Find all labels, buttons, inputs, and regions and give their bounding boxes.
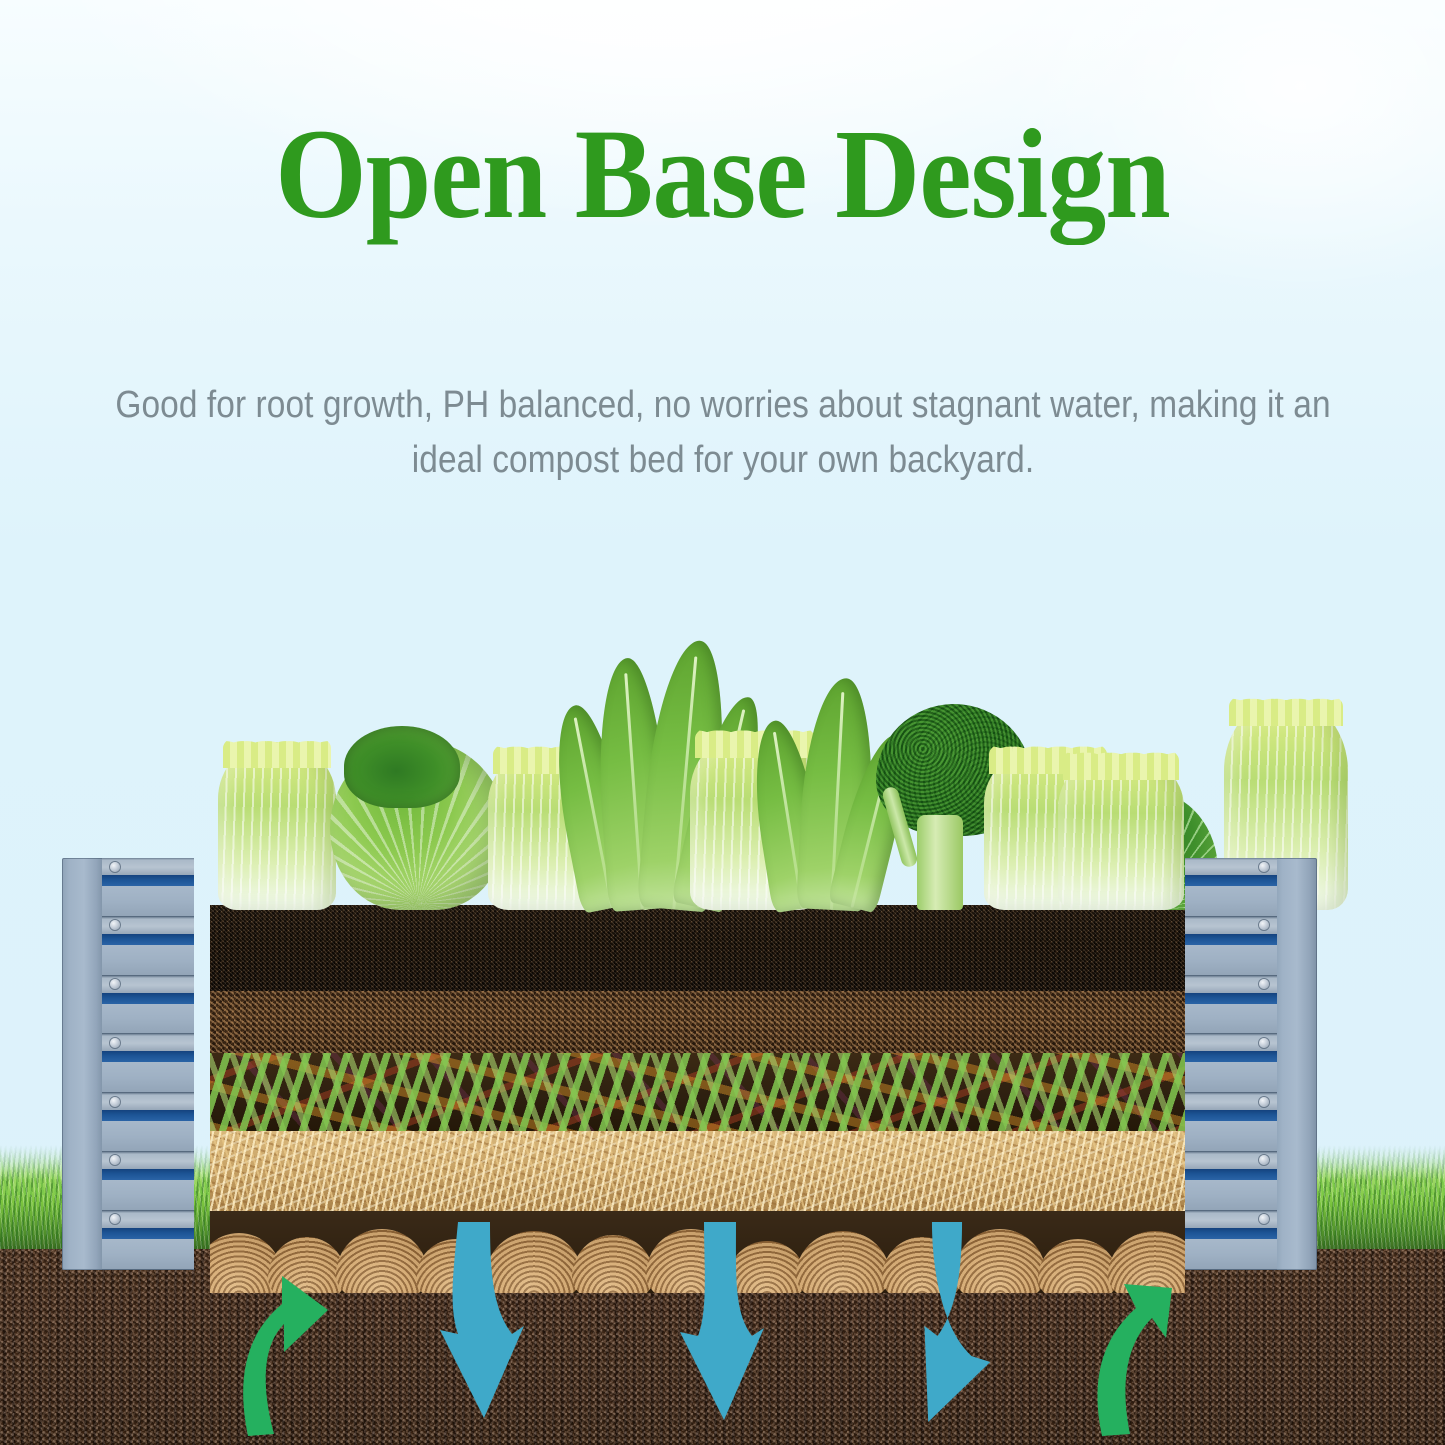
screw-icon (1259, 1097, 1269, 1107)
panel-slats-left (102, 858, 194, 1270)
log-end (572, 1235, 654, 1293)
panel-slat (1185, 1152, 1277, 1211)
drainage-down-arrow-2 (672, 1222, 768, 1422)
panel-slat (102, 1211, 194, 1270)
infographic-canvas: Open Base Design Good for root growth, P… (0, 0, 1445, 1445)
airflow-up-left-arrow (232, 1248, 340, 1438)
napa-cabbage (218, 742, 336, 910)
panel-slat (102, 858, 194, 917)
page-subtitle: Good for root growth, PH balanced, no wo… (93, 378, 1351, 488)
log-end (336, 1229, 428, 1293)
screw-icon (110, 1097, 120, 1107)
drainage-down-arrow-3 (914, 1222, 1010, 1422)
corner-post-left (62, 858, 104, 1270)
panel-slat (1185, 976, 1277, 1035)
layer-kitchen-scraps (210, 1053, 1185, 1131)
panel-slat (102, 917, 194, 976)
panel-slat (102, 976, 194, 1035)
panel-slat (102, 1152, 194, 1211)
metal-side-panel-left (62, 858, 194, 1270)
green-cabbage (330, 740, 506, 910)
log-end (796, 1231, 890, 1293)
panel-slat (1185, 1034, 1277, 1093)
metal-side-panel-right (1185, 858, 1317, 1270)
drainage-down-arrow-1 (428, 1222, 524, 1422)
panel-slat (1185, 858, 1277, 917)
panel-slats-right (1185, 858, 1277, 1270)
screw-icon (110, 862, 120, 872)
layer-brown-soil (210, 991, 1185, 1053)
bok-choy-leaves (756, 660, 896, 910)
layer-topsoil (210, 905, 1185, 991)
layer-straw (210, 1131, 1185, 1211)
corner-post-right (1275, 858, 1317, 1270)
screw-icon (1259, 862, 1269, 872)
panel-slat (1185, 1093, 1277, 1152)
panel-slat (102, 1093, 194, 1152)
napa-cabbage (1058, 754, 1184, 910)
panel-slat (1185, 1211, 1277, 1270)
page-title: Open Base Design (58, 110, 1387, 238)
screw-icon (1259, 1038, 1269, 1048)
screw-icon (110, 1038, 120, 1048)
panel-slat (102, 1034, 194, 1093)
airflow-up-right-arrow (1068, 1248, 1176, 1438)
panel-slat (1185, 917, 1277, 976)
